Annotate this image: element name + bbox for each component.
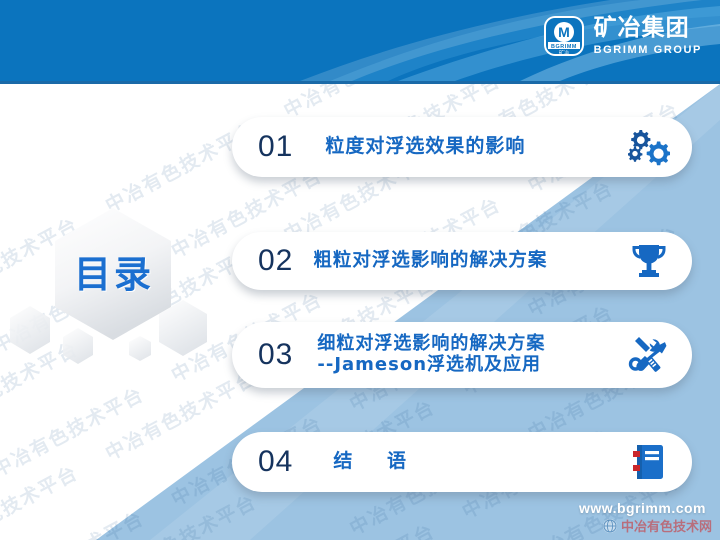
- gears-icon: [622, 128, 676, 166]
- hexagon-satellite-bottom: [63, 328, 93, 364]
- toc-item-title: 粒度对浮选效果的影响: [325, 136, 622, 158]
- hexagon-satellite-left: [10, 306, 50, 354]
- toc-item-title: 细粒对浮选影响的解决方案 --Jameson浮选机及应用: [317, 334, 622, 375]
- book-icon: [622, 443, 676, 481]
- toc-title: 目录: [44, 244, 184, 298]
- svg-text:矿冶: 矿冶: [559, 49, 569, 56]
- brand-logo: M BGRIMM 矿冶 矿冶集团 BGRIMM GROUP: [541, 13, 702, 59]
- toc-item-title: 粗粒对浮选影响的解决方案: [313, 250, 622, 271]
- brand-name-en: BGRIMM GROUP: [594, 45, 702, 56]
- toc-item-03[interactable]: 03 细粒对浮选影响的解决方案 --Jameson浮选机及应用: [232, 322, 692, 388]
- toc-item-number: 01: [258, 130, 293, 164]
- footer-watermark-text: 中冶有色技术网: [621, 516, 712, 535]
- toc-item-01[interactable]: 01 粒度对浮选效果的影响: [232, 117, 692, 177]
- header-divider: [0, 81, 720, 84]
- trophy-icon: [622, 241, 676, 281]
- toc-item-title: 结 语: [333, 451, 622, 473]
- toc-item-number: 03: [258, 338, 293, 372]
- toc-item-02[interactable]: 02 粗粒对浮选影响的解决方案: [232, 232, 692, 290]
- svg-text:M: M: [558, 24, 570, 40]
- hexagon-satellite-small: [129, 336, 151, 361]
- toc-item-number: 02: [258, 244, 293, 278]
- toc-item-title-line1: 细粒对浮选影响的解决方案: [317, 333, 545, 354]
- toc-item-04[interactable]: 04 结 语: [232, 432, 692, 492]
- bgrimm-emblem-icon: M BGRIMM 矿冶: [541, 13, 587, 59]
- toc-item-title-line2: --Jameson浮选机及应用: [317, 355, 622, 376]
- brand-name-cn: 矿冶集团: [594, 17, 702, 40]
- slide-root: 中冶有色技术平台中冶有色技术平台中冶有色技术平台中冶有色技术平台 中冶有色技术平…: [0, 0, 720, 540]
- wrench-screwdriver-icon: [622, 334, 676, 376]
- footer-website-url[interactable]: www.bgrimm.com: [579, 500, 706, 516]
- slide-header: M BGRIMM 矿冶 矿冶集团 BGRIMM GROUP: [0, 0, 720, 81]
- svg-text:BGRIMM: BGRIMM: [551, 44, 577, 50]
- toc-item-number: 04: [258, 445, 293, 479]
- globe-icon: [602, 518, 618, 534]
- footer-watermark: 中冶有色技术网: [602, 516, 712, 535]
